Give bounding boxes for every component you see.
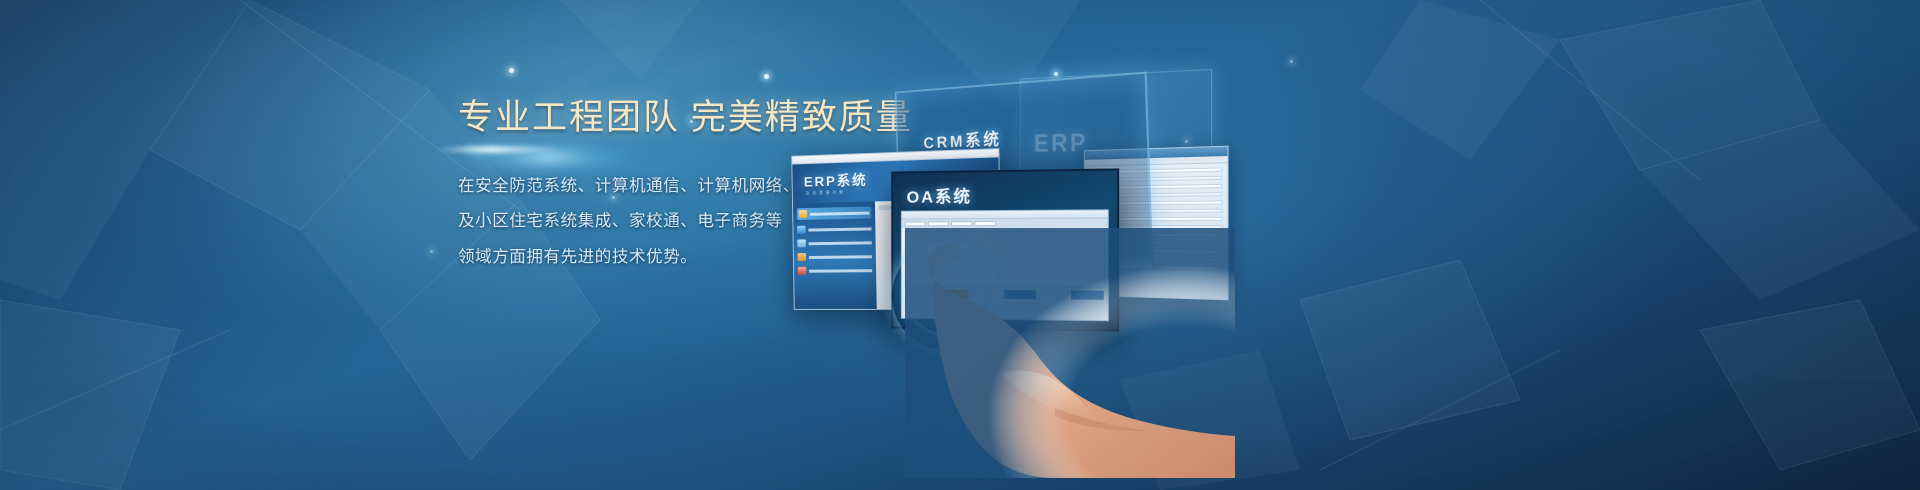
sparkle xyxy=(430,250,433,253)
folder-icon xyxy=(799,210,808,218)
oa-window-inner xyxy=(901,209,1109,321)
chart-icon xyxy=(797,226,806,234)
erp-nav xyxy=(793,201,877,310)
oa-window: OA系统 xyxy=(891,168,1119,331)
oa-footer xyxy=(905,301,1105,312)
grid-icon xyxy=(798,267,807,275)
erp-nav-item xyxy=(797,207,872,220)
oa-tabs xyxy=(902,218,1108,228)
oa-swatches xyxy=(902,289,1108,300)
oa-canvas xyxy=(905,231,1105,288)
erp-nav-item xyxy=(797,224,871,233)
sparkle xyxy=(509,68,514,73)
erp-nav-item xyxy=(798,252,872,261)
erp-nav-item xyxy=(798,266,873,275)
erp-window-title: ERP系统 xyxy=(804,170,868,192)
software-screens-group: ERP MANAGE CRM系统 客户关系管理系统 ERP系统 企业资源计划 xyxy=(760,40,1320,370)
erp-nav-item xyxy=(797,238,871,247)
erp-window-subtitle: 企业资源计划 xyxy=(806,189,846,196)
gear-icon xyxy=(798,253,807,261)
box-icon xyxy=(797,239,806,247)
oa-window-title: OA系统 xyxy=(907,182,972,207)
banner-hero: 专业工程团队 完美精致质量 在安全防范系统、计算机通信、计算机网络、智能大厦 及… xyxy=(0,0,1920,490)
